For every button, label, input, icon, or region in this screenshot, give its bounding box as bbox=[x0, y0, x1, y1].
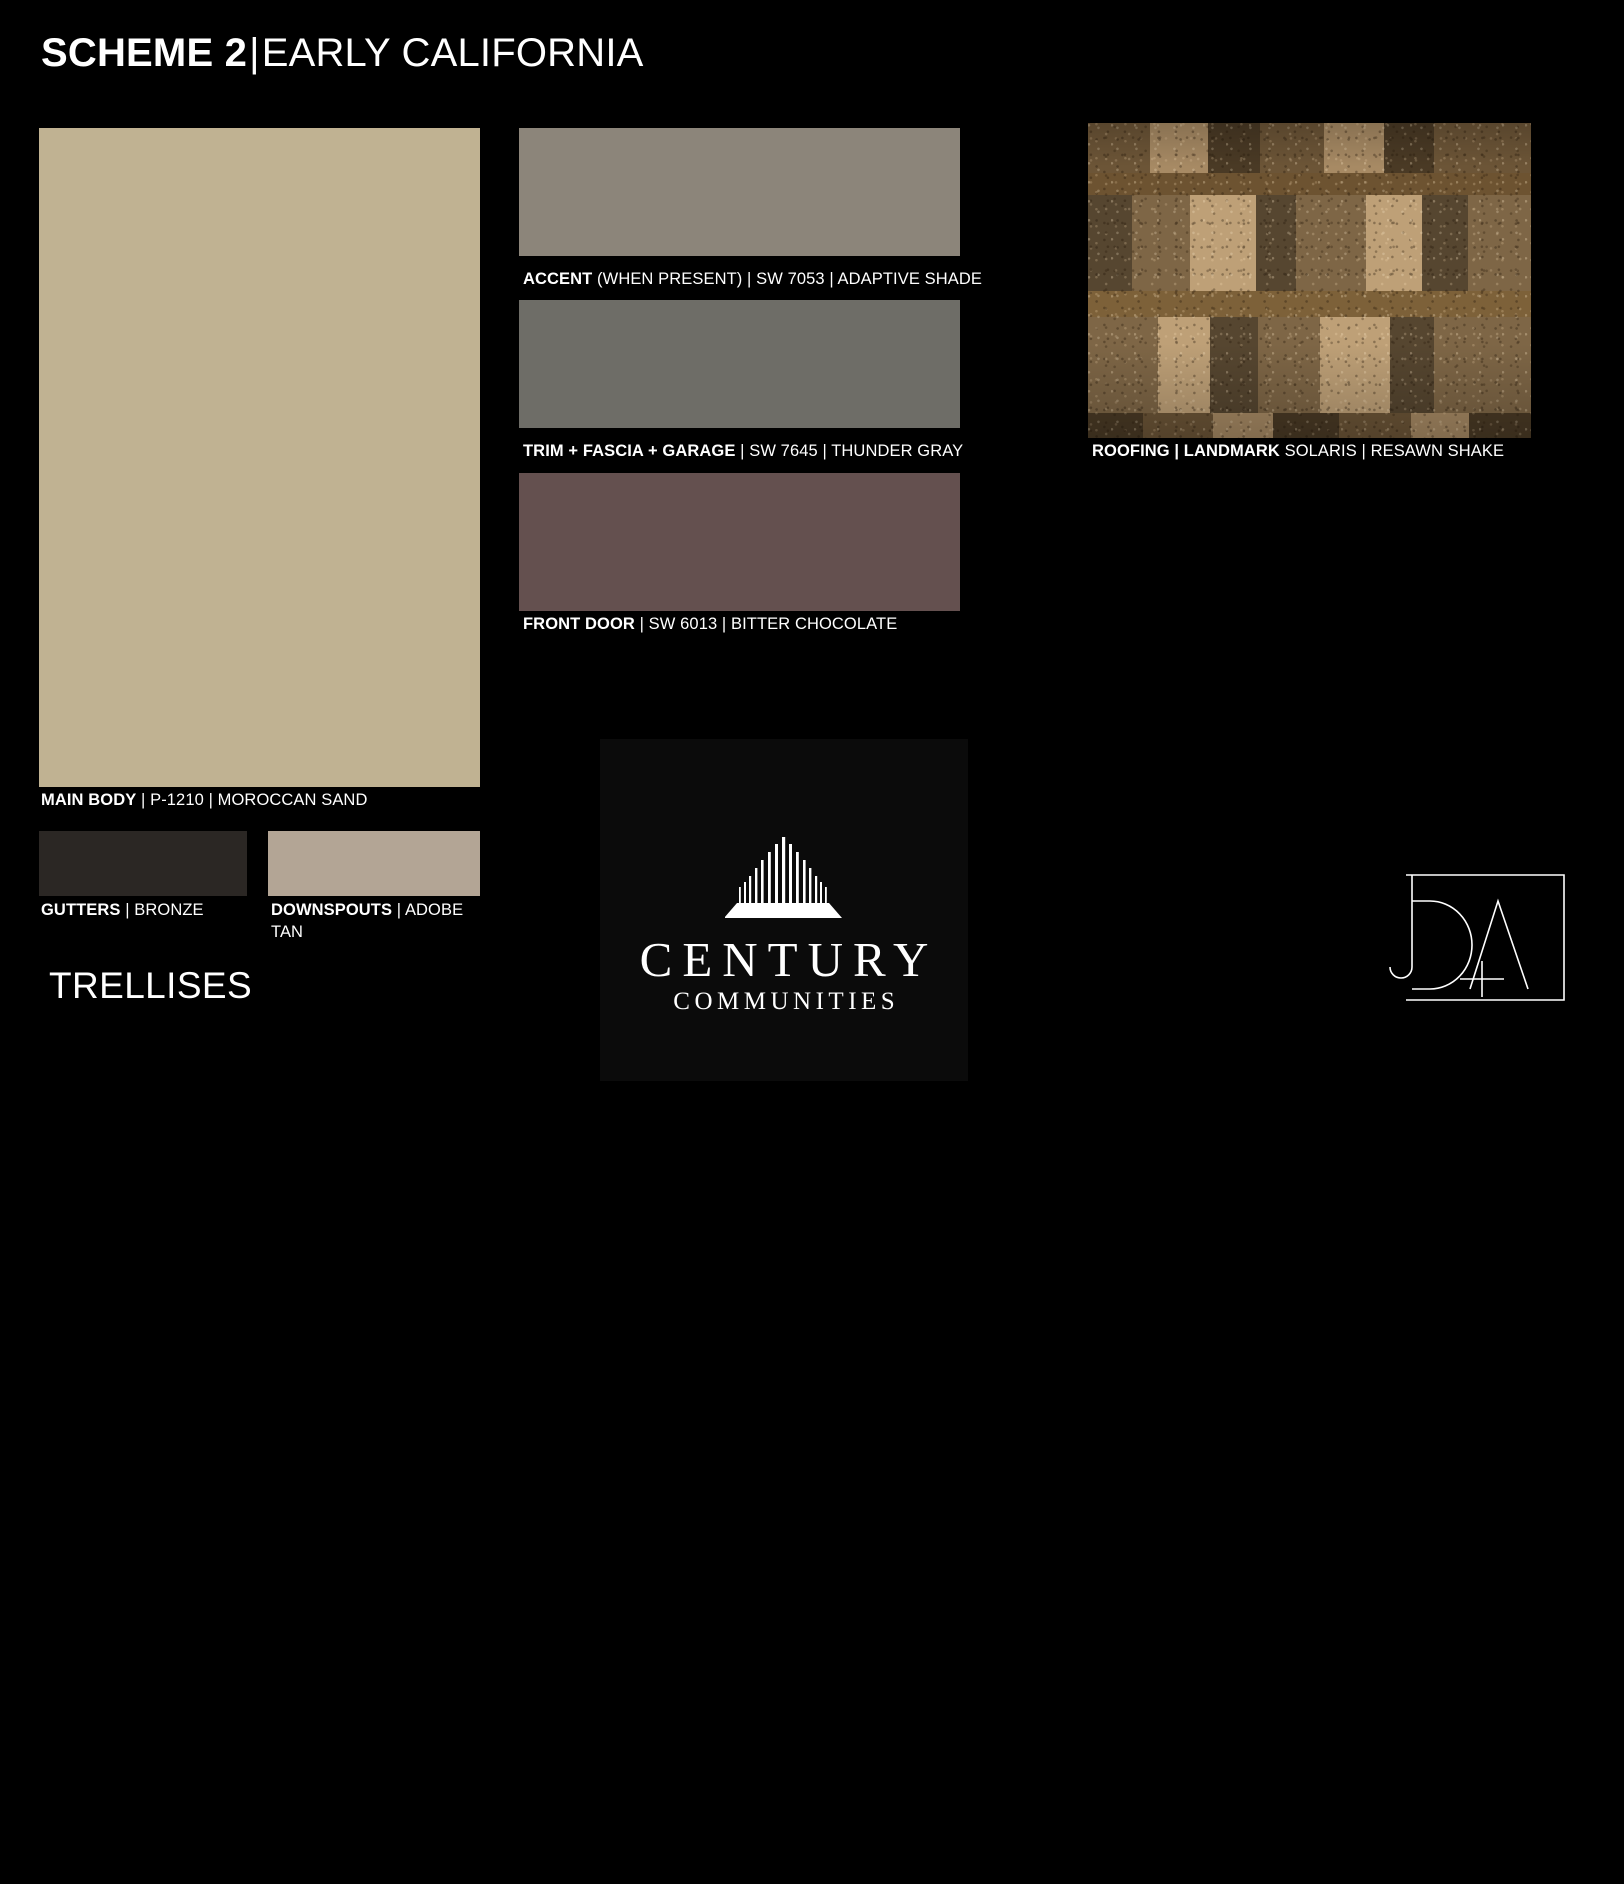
swatch-main-body[interactable] bbox=[39, 128, 480, 787]
label-downspouts-bold: DOWNSPOUTS bbox=[271, 901, 392, 919]
label-downspouts: DOWNSPOUTS | ADOBE TAN bbox=[271, 900, 481, 944]
swatch-front-door[interactable] bbox=[519, 473, 960, 611]
title-separator: | bbox=[247, 31, 262, 75]
trellises-heading: TRELLISES bbox=[49, 967, 252, 1004]
label-front-door-regular: | SW 6013 | BITTER CHOCOLATE bbox=[640, 615, 898, 633]
swatch-accent[interactable] bbox=[519, 128, 960, 256]
century-wordmark: CENTURY bbox=[630, 935, 939, 984]
jda-logo: JEFFREY DeMURE + ASSOCIATES ARCHITECTS P… bbox=[1378, 861, 1578, 1011]
title-scheme-number: SCHEME 2 bbox=[41, 31, 247, 75]
label-main-body-regular: | P-1210 | MOROCCAN SAND bbox=[141, 791, 367, 809]
swatch-trim-fascia-garage[interactable] bbox=[519, 300, 960, 428]
label-front-door: FRONT DOOR | SW 6013 | BITTER CHOCOLATE bbox=[523, 614, 897, 636]
label-gutters: GUTTERS | BRONZE bbox=[41, 900, 204, 922]
label-roofing-bold: ROOFING | LANDMARK bbox=[1092, 442, 1280, 460]
label-accent-bold: ACCENT bbox=[523, 270, 592, 288]
label-trim-bold: TRIM + FASCIA + GARAGE bbox=[523, 442, 735, 460]
label-roofing: ROOFING | LANDMARK SOLARIS | RESAWN SHAK… bbox=[1092, 441, 1504, 463]
label-gutters-regular: | BRONZE bbox=[125, 901, 203, 919]
label-main-body-bold: MAIN BODY bbox=[41, 791, 136, 809]
shingle-overall-shading bbox=[1088, 123, 1531, 438]
swatch-gutters[interactable] bbox=[39, 831, 247, 896]
page-title: SCHEME 2|EARLY CALIFORNIA bbox=[41, 33, 644, 73]
label-gutters-bold: GUTTERS bbox=[41, 901, 121, 919]
label-front-door-bold: FRONT DOOR bbox=[523, 615, 635, 633]
label-accent-regular: (WHEN PRESENT) | SW 7053 | ADAPTIVE SHAD… bbox=[597, 270, 982, 288]
label-main-body: MAIN BODY | P-1210 | MOROCCAN SAND bbox=[41, 790, 367, 812]
building-columns-icon bbox=[725, 835, 843, 926]
label-accent: ACCENT (WHEN PRESENT) | SW 7053 | ADAPTI… bbox=[523, 269, 982, 291]
label-trim-regular: | SW 7645 | THUNDER GRAY bbox=[740, 442, 963, 460]
century-subtitle: COMMUNITIES bbox=[669, 989, 899, 1014]
label-roofing-regular: SOLARIS | RESAWN SHAKE bbox=[1285, 442, 1505, 460]
color-scheme-board: SCHEME 2|EARLY CALIFORNIA MAIN BODY | P-… bbox=[0, 0, 1624, 1081]
title-scheme-name: EARLY CALIFORNIA bbox=[262, 31, 644, 75]
century-communities-logo: CENTURY COMMUNITIES bbox=[600, 739, 968, 1081]
label-trim-fascia-garage: TRIM + FASCIA + GARAGE | SW 7645 | THUND… bbox=[523, 441, 963, 463]
swatch-downspouts[interactable] bbox=[268, 831, 480, 896]
swatch-roofing-shingle[interactable] bbox=[1088, 123, 1531, 438]
